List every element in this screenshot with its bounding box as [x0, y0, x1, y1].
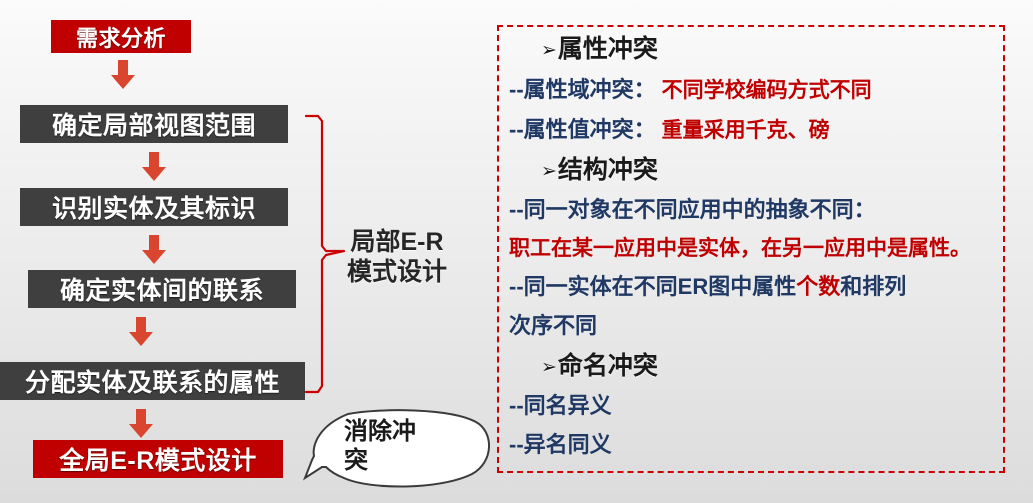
conflict-item-5-label: --同一实体在不同ER图中属性 — [509, 274, 796, 299]
conflict-item-4-example: 职工在某一应用中是实体，在另一应用中是属性。 — [509, 237, 971, 260]
conflict-item-3-label: --同一对象在不同应用中的抽象不同： — [509, 197, 876, 222]
conflict-item-1-label: --属性域冲突： — [509, 77, 656, 102]
conflict-item-2-example: 重量采用千克、磅 — [662, 119, 830, 142]
conflict-heading-3-text: 命名冲突 — [558, 352, 658, 380]
conflict-item-7-label: --同名异义 — [509, 393, 612, 418]
conflict-item-1: --属性域冲突：不同学校编码方式不同 — [509, 79, 872, 101]
conflict-heading-3: ➢命名冲突 — [541, 354, 658, 379]
flow-step-6-label: 全局E-R模式设计 — [59, 441, 257, 477]
flow-step-4[interactable]: 确定实体间的联系 — [28, 270, 296, 308]
conflict-item-5-label-tail: 和排列 — [840, 274, 906, 299]
conflict-item-4: 职工在某一应用中是实体，在另一应用中是属性。 — [509, 238, 971, 259]
flow-step-4-label: 确定实体间的联系 — [60, 271, 264, 307]
down-arrow-icon-4 — [128, 317, 154, 347]
conflict-heading-2-text: 结构冲突 — [558, 156, 658, 184]
slide-canvas: 需求分析 确定局部视图范围 识别实体及其标识 — [0, 0, 1033, 503]
arrowhead-bullet-icon-1: ➢ — [541, 41, 557, 60]
conflict-item-8: --异名同义 — [509, 434, 612, 456]
conflict-heading-2: ➢结构冲突 — [541, 158, 658, 183]
conflict-item-7: --同名异义 — [509, 395, 612, 417]
down-arrow-icon-5 — [128, 409, 154, 439]
down-arrow-icon-1 — [110, 60, 136, 90]
flow-step-3-label: 识别实体及其标识 — [52, 189, 256, 225]
conflict-panel: ➢属性冲突 --属性域冲突：不同学校编码方式不同 --属性值冲突：重量采用千克、… — [497, 25, 1005, 473]
callout-line2: 突 — [344, 447, 416, 476]
bracket-label: 局部E-R 模式设计 — [347, 228, 447, 287]
conflict-item-6: 次序不同 — [509, 315, 597, 337]
arrowhead-bullet-icon-2: ➢ — [541, 162, 557, 181]
down-arrow-icon-3 — [141, 235, 167, 265]
flow-step-1-label: 需求分析 — [76, 21, 166, 53]
conflict-heading-1-text: 属性冲突 — [558, 35, 658, 63]
flow-step-2-label: 确定局部视图范围 — [52, 106, 256, 142]
conflict-item-8-label: --异名同义 — [509, 432, 612, 457]
flow-step-6[interactable]: 全局E-R模式设计 — [33, 440, 283, 478]
callout-line1: 消除冲 — [344, 418, 416, 447]
bracket-label-line2: 模式设计 — [347, 258, 447, 288]
conflict-item-6-label: 次序不同 — [509, 313, 597, 338]
conflict-item-2-label: --属性值冲突： — [509, 117, 656, 142]
arrowhead-bullet-icon-3: ➢ — [541, 358, 557, 377]
conflict-item-3: --同一对象在不同应用中的抽象不同： — [509, 199, 876, 221]
down-arrow-icon-2 — [141, 152, 167, 182]
speech-bubble-icon[interactable]: 消除冲 突 — [300, 406, 496, 495]
flow-step-5-label: 分配实体及联系的属性 — [25, 363, 280, 399]
flow-step-3[interactable]: 识别实体及其标识 — [20, 188, 288, 226]
conflict-heading-1: ➢属性冲突 — [541, 37, 658, 62]
conflict-item-1-example: 不同学校编码方式不同 — [662, 79, 872, 102]
flow-step-5[interactable]: 分配实体及联系的属性 — [0, 362, 305, 400]
flow-step-2[interactable]: 确定局部视图范围 — [20, 105, 288, 143]
flow-step-1[interactable]: 需求分析 — [51, 20, 191, 53]
conflict-item-5: --同一实体在不同ER图中属性个数和排列 — [509, 276, 906, 298]
bracket-label-line1: 局部E-R — [347, 228, 447, 258]
conflict-item-5-highlight: 个数 — [796, 274, 840, 299]
conflict-item-2: --属性值冲突：重量采用千克、磅 — [509, 119, 830, 141]
callout-label: 消除冲 突 — [344, 418, 416, 476]
